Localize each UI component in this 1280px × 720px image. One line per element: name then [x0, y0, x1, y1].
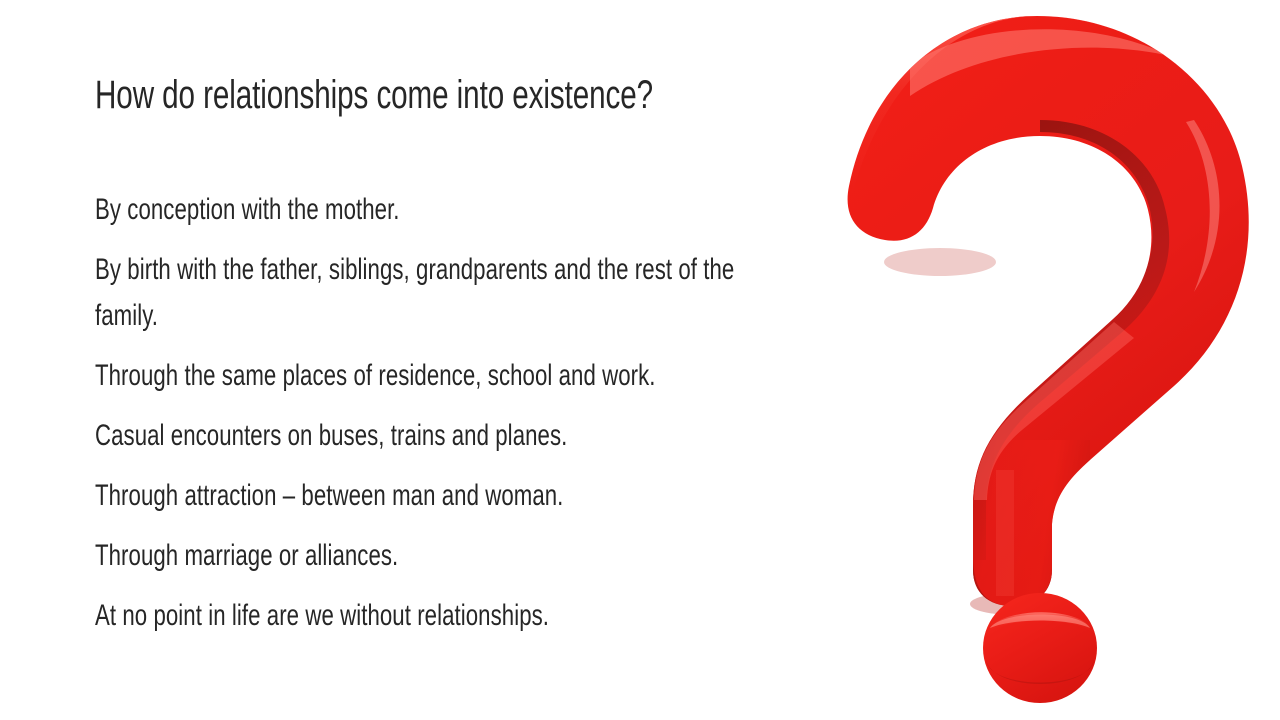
list-item: Through attraction – between man and wom… [95, 473, 746, 519]
question-mark-body [839, 12, 1248, 614]
list-item: By birth with the father, siblings, gran… [95, 247, 746, 339]
list-item: By conception with the mother. [95, 187, 746, 233]
question-mark-dot [983, 593, 1097, 703]
slide-text-column: How do relationships come into existence… [95, 0, 795, 720]
list-item: Through marriage or alliances. [95, 533, 746, 579]
page-title: How do relationships come into existence… [95, 73, 657, 118]
slide: How do relationships come into existence… [0, 0, 1280, 720]
question-mark-icon [790, 0, 1280, 720]
list-item: At no point in life are we without relat… [95, 593, 746, 639]
list-item: Through the same places of residence, sc… [95, 353, 746, 399]
list-item: Casual encounters on buses, trains and p… [95, 413, 746, 459]
